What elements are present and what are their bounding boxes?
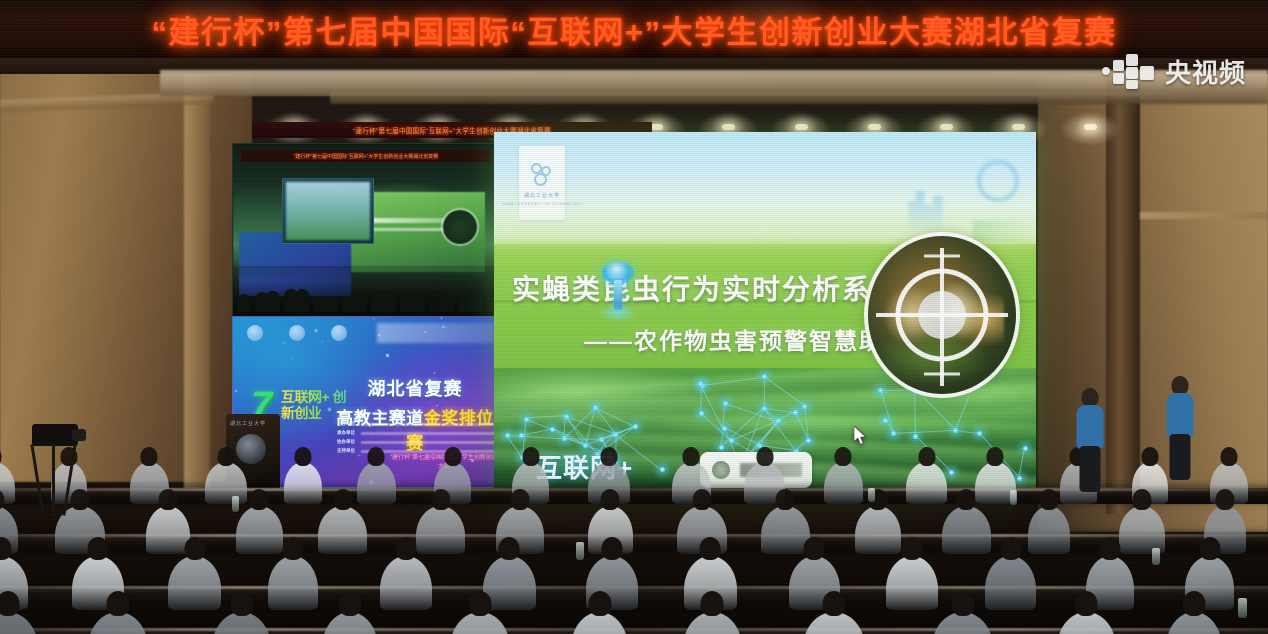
audience-head bbox=[588, 591, 611, 616]
tripod-leg-center bbox=[52, 444, 55, 516]
crowd-silhouette bbox=[469, 291, 483, 312]
audience-head bbox=[804, 537, 825, 560]
audience-member bbox=[683, 612, 742, 634]
audience-member bbox=[824, 462, 863, 504]
audience-member bbox=[1028, 506, 1071, 554]
audience-head bbox=[87, 537, 108, 560]
downlight bbox=[868, 124, 881, 130]
downlight bbox=[795, 124, 808, 130]
audience-member bbox=[886, 556, 938, 610]
audience-head bbox=[957, 489, 976, 510]
slide-university-logo: 湖北工业大学 HUBEI UNIVERSITY OF TECHNOLOGY bbox=[519, 146, 565, 220]
crowd-silhouette bbox=[295, 289, 309, 312]
audience-head bbox=[1199, 537, 1220, 560]
sponsor-logo-icon-2 bbox=[289, 325, 305, 341]
audience-head bbox=[0, 591, 19, 616]
downlight bbox=[722, 124, 735, 130]
ceiling-cove-light-secondary bbox=[330, 92, 1268, 104]
audience-head bbox=[602, 537, 623, 560]
audience-head bbox=[700, 537, 721, 560]
audience-head bbox=[1100, 537, 1121, 560]
tripod-leg-right bbox=[62, 444, 76, 516]
audience-head bbox=[601, 447, 618, 466]
audience-head bbox=[683, 447, 700, 466]
audience-head bbox=[159, 489, 178, 510]
audience-head bbox=[339, 591, 362, 616]
slide-subtitle: ——农作物虫害预警智慧助手 bbox=[584, 322, 909, 356]
audience-member bbox=[88, 612, 147, 634]
staff-torso bbox=[1077, 405, 1104, 449]
audience-head bbox=[499, 537, 520, 560]
audience-head bbox=[1221, 447, 1238, 466]
audience-head bbox=[141, 447, 158, 466]
water-bottle bbox=[232, 496, 239, 512]
downlight bbox=[1084, 124, 1097, 130]
audience-head bbox=[835, 447, 852, 466]
audience-member bbox=[357, 462, 395, 504]
audience-head bbox=[823, 591, 846, 616]
crowd-silhouette bbox=[440, 298, 454, 312]
audience-head bbox=[1000, 537, 1021, 560]
organizer-row: 主办单位 bbox=[337, 421, 497, 427]
led-header-banner: “建行杯”第七届中国国际“互联网+”大学生创新创业大赛湖北省复赛 bbox=[0, 0, 1268, 58]
stage-monitor bbox=[282, 178, 374, 244]
audience-head bbox=[1142, 447, 1159, 466]
audience-member bbox=[416, 506, 465, 554]
audience-head bbox=[987, 447, 1004, 466]
staff-legs bbox=[1170, 434, 1191, 480]
university-logo-mark-icon bbox=[529, 161, 555, 189]
audience-head bbox=[1132, 489, 1151, 510]
slide-faded-graphics bbox=[905, 158, 1033, 244]
camera-lens-icon bbox=[72, 429, 86, 441]
audience-head bbox=[0, 447, 2, 466]
audience-head bbox=[1216, 489, 1235, 510]
audience-head bbox=[951, 591, 974, 616]
audience-member bbox=[284, 462, 323, 504]
audience-member bbox=[942, 506, 991, 554]
audience-head bbox=[431, 489, 450, 510]
audience-head bbox=[368, 447, 385, 466]
left-wall-panel bbox=[0, 62, 252, 482]
audience-member bbox=[932, 612, 994, 634]
audience-head bbox=[511, 489, 530, 510]
audience-member bbox=[1057, 612, 1116, 634]
audience-area bbox=[0, 430, 1268, 634]
organizer-value-bar bbox=[361, 423, 497, 426]
side-screen-headline-line1: 湖北省复赛 bbox=[329, 375, 501, 401]
audience-member bbox=[318, 506, 367, 554]
audience-member bbox=[236, 506, 283, 554]
audience-head bbox=[250, 489, 269, 510]
audience-head bbox=[283, 537, 304, 560]
audience-head bbox=[701, 591, 724, 616]
audience-head bbox=[776, 489, 795, 510]
audience-member bbox=[1119, 506, 1165, 554]
sparkle bbox=[239, 371, 240, 372]
audience-member bbox=[268, 556, 318, 610]
audience-head bbox=[901, 537, 922, 560]
audience-head bbox=[1039, 489, 1058, 510]
water-bottle bbox=[868, 488, 875, 502]
audience-member bbox=[761, 506, 810, 554]
staff-torso bbox=[1167, 393, 1194, 437]
tripod-leg-left bbox=[30, 444, 44, 516]
iot-sensor-base-glow bbox=[598, 304, 638, 322]
sparkle bbox=[378, 323, 379, 324]
led-header-text: “建行杯”第七届中国国际“互联网+”大学生创新创业大赛湖北省复赛 bbox=[151, 7, 1116, 52]
audience-head bbox=[468, 591, 491, 616]
crowd-silhouette bbox=[411, 291, 425, 312]
downlight bbox=[1012, 124, 1025, 130]
camera-operator-rig bbox=[18, 424, 94, 520]
audience-member bbox=[571, 612, 629, 634]
audience-member bbox=[0, 612, 38, 634]
water-bottle bbox=[1010, 490, 1017, 505]
sensor-link bbox=[764, 376, 765, 407]
university-logo-line2: HUBEI UNIVERSITY OF TECHNOLOGY bbox=[503, 202, 581, 206]
sparkle bbox=[242, 393, 243, 394]
university-logo-line1: 湖北工业大学 bbox=[524, 192, 560, 199]
organizer-label: 主办单位 bbox=[337, 421, 355, 427]
slide-iot-sensor-graphic bbox=[596, 262, 640, 324]
audience-head bbox=[295, 447, 312, 466]
slide-faded-chart-icon bbox=[905, 184, 959, 230]
secondary-screen-banner: “建行杯”第七届中国国际“互联网+”大学生创新创业大赛湖北省复赛 bbox=[241, 150, 491, 162]
audience-member bbox=[380, 556, 432, 610]
water-bottle bbox=[1238, 598, 1247, 618]
table-edge-highlight bbox=[0, 534, 1268, 537]
podium-label: 湖北工业大学 bbox=[230, 420, 266, 427]
sponsor-logo-icon-1 bbox=[247, 325, 263, 341]
slide-title: 实蝇类昆虫行为实时分析系统 bbox=[512, 268, 902, 308]
audience-head bbox=[1183, 591, 1206, 616]
audience-head bbox=[217, 447, 234, 466]
sponsor-logo-icon-3 bbox=[331, 325, 347, 341]
audience-member bbox=[205, 462, 247, 504]
sparkle bbox=[386, 354, 388, 356]
audience-member bbox=[322, 612, 378, 634]
slide-faded-circle-icon bbox=[977, 160, 1019, 202]
video-stage: “建行杯”第七届中国国际“互联网+”大学生创新创业大赛湖北省复赛 央视频 “建行… bbox=[0, 0, 1268, 634]
water-bottle bbox=[1152, 548, 1160, 565]
crowd-silhouette bbox=[353, 292, 367, 312]
water-bottle bbox=[576, 542, 584, 560]
secondary-screen-banner-text: “建行杯”第七届中国国际“互联网+”大学生创新创业大赛湖北省复赛 bbox=[294, 153, 439, 160]
audience-head bbox=[756, 447, 773, 466]
audience-head bbox=[107, 591, 130, 616]
sparkle bbox=[434, 372, 435, 373]
audience-head bbox=[333, 489, 352, 510]
sparkle bbox=[291, 357, 292, 358]
audience-head bbox=[230, 591, 253, 616]
audience-member bbox=[803, 612, 864, 634]
audience-member bbox=[985, 556, 1035, 610]
audience-member bbox=[168, 556, 222, 610]
cctv-video-dot-logo-icon bbox=[1102, 52, 1156, 90]
right-wall-rail bbox=[1140, 212, 1268, 219]
audience-member bbox=[855, 506, 901, 554]
audience-member bbox=[450, 612, 510, 634]
audience-head bbox=[444, 447, 461, 466]
crowd-silhouette bbox=[324, 297, 338, 312]
audience-head bbox=[1075, 591, 1098, 616]
audience-head bbox=[693, 489, 712, 510]
sparkle bbox=[235, 390, 237, 392]
audience-member bbox=[906, 462, 947, 504]
audience-member bbox=[212, 612, 271, 634]
stage-monitor-screen bbox=[286, 182, 370, 240]
downlight bbox=[940, 124, 953, 130]
left-wall-edge bbox=[184, 62, 210, 492]
sparkle bbox=[441, 317, 442, 318]
audience-member bbox=[1166, 612, 1222, 634]
sparkle bbox=[373, 318, 375, 320]
sparkle bbox=[234, 349, 235, 350]
audience-head bbox=[522, 447, 539, 466]
audience-head bbox=[395, 537, 416, 560]
staff-legs bbox=[1080, 446, 1101, 492]
crowd-silhouette bbox=[237, 294, 251, 312]
crowd-silhouette bbox=[382, 290, 396, 312]
cctv-video-watermark-text: 央视频 bbox=[1165, 53, 1246, 90]
crosshair-reticle-icon bbox=[868, 236, 1016, 394]
crowd-silhouette bbox=[266, 291, 280, 312]
audience-head bbox=[184, 537, 205, 560]
cctv-video-watermark: 央视频 bbox=[1102, 52, 1246, 90]
secondary-screen-audience bbox=[233, 266, 497, 318]
audience-head bbox=[601, 489, 620, 510]
audience-head bbox=[918, 447, 935, 466]
mouse-pointer bbox=[854, 426, 868, 446]
